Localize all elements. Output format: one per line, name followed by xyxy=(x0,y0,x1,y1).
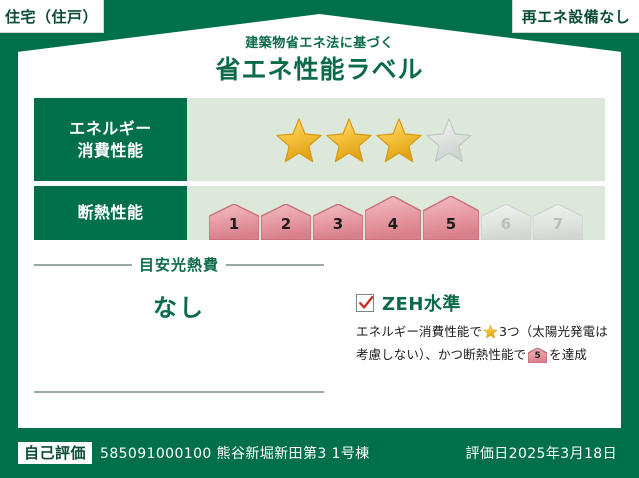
insulation-level-1-number: 1 xyxy=(209,215,259,233)
inline-house-icon: 5 xyxy=(528,351,547,366)
utility-cost-heading: 目安光熱費 xyxy=(34,254,324,275)
star-rating xyxy=(275,116,473,164)
main-panel: エネルギー 消費性能 断熱性能 1234567 目安光熱費 なし xyxy=(18,88,621,428)
footer-building-id: 585091000100 熊谷新堀新田第3 1号棟 xyxy=(100,443,370,463)
row-energy-label: エネルギー 消費性能 xyxy=(34,98,187,181)
insulation-level-5-on: 5 xyxy=(423,196,479,240)
badge-renewable-energy: 再エネ設備なし xyxy=(512,0,639,33)
zeh-title: ZEH水準 xyxy=(382,290,461,316)
star-3-filled-icon xyxy=(375,116,423,164)
zeh-desc-part1: エネルギー消費性能で xyxy=(356,324,482,339)
badge-building-type: 住宅（住戸） xyxy=(0,0,104,33)
star-2-filled-icon xyxy=(325,116,373,164)
insulation-level-7-off: 7 xyxy=(533,204,583,240)
insulation-level-3-number: 3 xyxy=(313,215,363,233)
row-energy-label-line2: 消費性能 xyxy=(77,140,143,161)
zeh-block: ZEH水準 エネルギー消費性能で3つ（太陽光発電は考慮しない）、かつ断熱性能で5… xyxy=(356,290,608,370)
insulation-level-7-number: 7 xyxy=(533,215,583,233)
insulation-level-scale: 1234567 xyxy=(209,186,583,240)
row-insulation-performance: 断熱性能 1234567 xyxy=(34,186,605,240)
footer-left: 自己評価 585091000100 熊谷新堀新田第3 1号棟 xyxy=(18,442,370,465)
row-insulation-label-line1: 断熱性能 xyxy=(77,202,143,223)
utility-cost-bottom-rule xyxy=(34,391,324,393)
insulation-level-4-on: 4 xyxy=(365,196,421,240)
footer-evaluation-date: 評価日2025年3月18日 xyxy=(465,443,617,463)
utility-cost-value: なし xyxy=(34,288,324,323)
insulation-level-6-number: 6 xyxy=(481,215,531,233)
zeh-description: エネルギー消費性能で3つ（太陽光発電は考慮しない）、かつ断熱性能で5を達成 xyxy=(356,322,608,370)
title-block: 建築物省エネ法に基づく 省エネ性能ラベル xyxy=(0,36,639,85)
row-energy-performance: エネルギー 消費性能 xyxy=(34,98,605,181)
self-evaluation-badge: 自己評価 xyxy=(18,442,92,465)
insulation-level-1-on: 1 xyxy=(209,204,259,240)
row-energy-value xyxy=(187,98,605,181)
insulation-level-3-on: 3 xyxy=(313,204,363,240)
star-1-filled-icon xyxy=(275,116,323,164)
insulation-level-6-off: 6 xyxy=(481,204,531,240)
insulation-level-2-on: 2 xyxy=(261,204,311,240)
row-energy-label-line1: エネルギー xyxy=(69,118,152,139)
zeh-title-row: ZEH水準 xyxy=(356,290,608,316)
title-subtitle: 建築物省エネ法に基づく xyxy=(0,36,639,52)
insulation-level-5-number: 5 xyxy=(423,215,479,233)
heading-rule-right xyxy=(226,264,324,266)
energy-performance-label: 住宅（住戸） 再エネ設備なし 建築物省エネ法に基づく 省エネ性能ラベル エネルギ… xyxy=(0,0,639,478)
insulation-level-2-number: 2 xyxy=(261,215,311,233)
zeh-desc-part4: を達成 xyxy=(549,347,587,362)
insulation-level-4-number: 4 xyxy=(365,215,421,233)
inline-star-icon xyxy=(483,327,498,342)
zeh-desc-part2: 3つ（太陽光発電 xyxy=(499,324,595,339)
row-insulation-value: 1234567 xyxy=(187,186,605,240)
utility-cost-heading-label: 目安光熱費 xyxy=(139,254,219,275)
footer: 自己評価 585091000100 熊谷新堀新田第3 1号棟 評価日2025年3… xyxy=(0,428,639,478)
star-4-empty-icon xyxy=(425,116,473,164)
page-title: 省エネ性能ラベル xyxy=(0,54,639,85)
row-insulation-label: 断熱性能 xyxy=(34,186,187,240)
heading-rule-left xyxy=(34,264,132,266)
zeh-checkbox xyxy=(356,294,374,312)
